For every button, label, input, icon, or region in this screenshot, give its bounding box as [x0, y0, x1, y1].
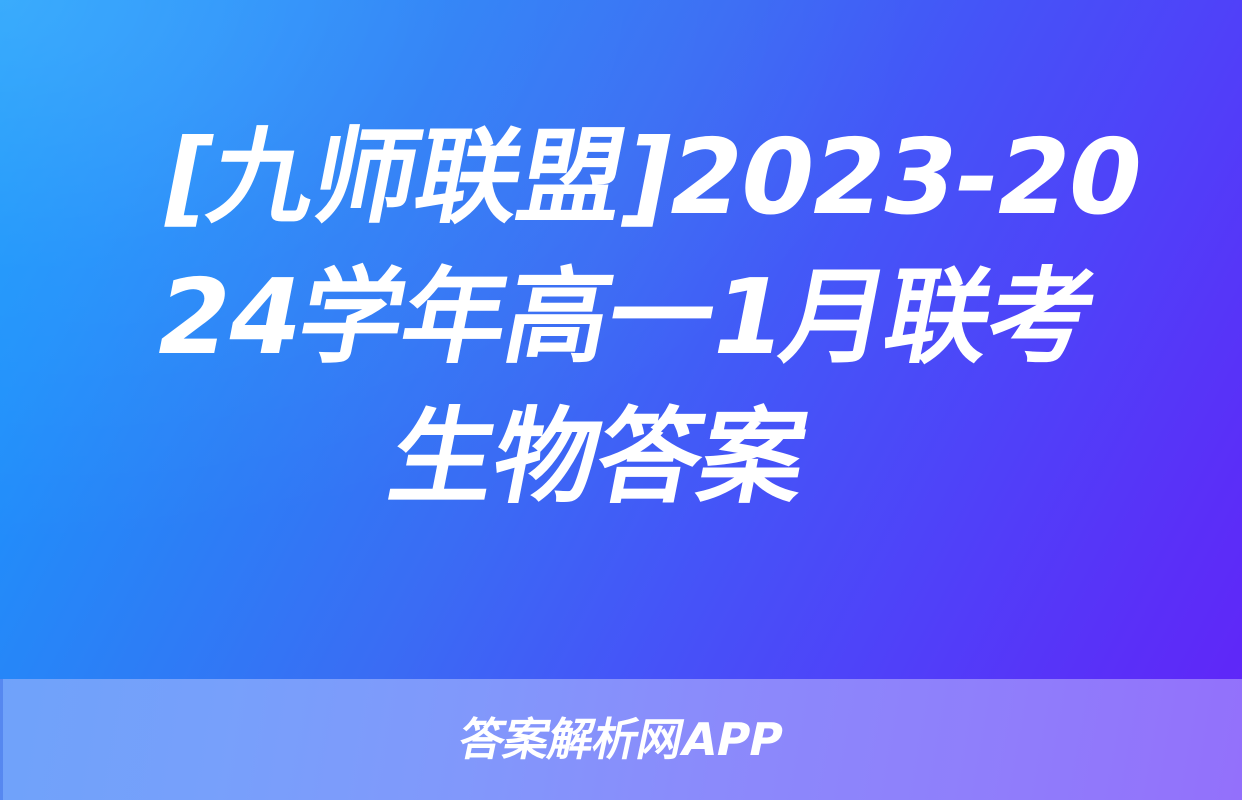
- page-title: [九师联盟]2023-2024学年高一1月联考生物答案: [61, 107, 1182, 573]
- title-area: [九师联盟]2023-2024学年高一1月联考生物答案: [0, 0, 1242, 679]
- answer-cover-poster: [九师联盟]2023-2024学年高一1月联考生物答案 答案解析网APP: [0, 0, 1242, 800]
- footer-left-edge: [0, 679, 3, 800]
- footer-band: 答案解析网APP: [0, 679, 1242, 800]
- watermark-brand: 答案解析网APP: [455, 715, 787, 765]
